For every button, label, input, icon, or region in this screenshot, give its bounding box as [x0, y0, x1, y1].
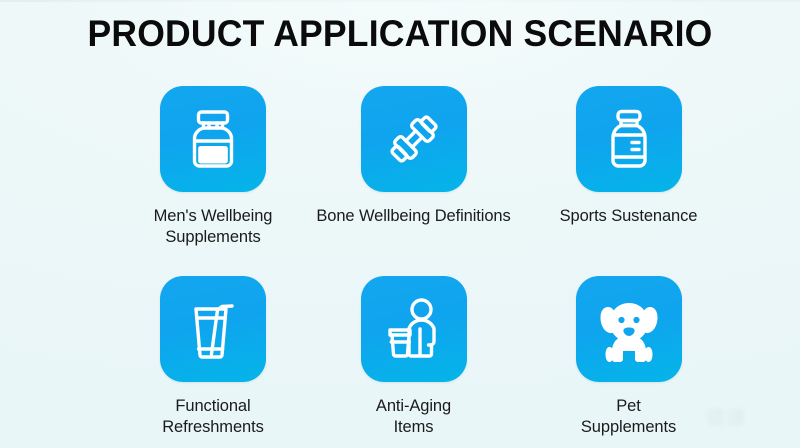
scenario-item-sports-sustenance[interactable]: Sports Sustenance [521, 86, 736, 248]
dog-icon [590, 290, 668, 368]
item-caption: Anti-Aging Items [321, 396, 507, 438]
caption-line-1: Anti-Aging [376, 397, 451, 415]
icon-tile[interactable] [160, 276, 266, 382]
icon-tile[interactable] [160, 86, 266, 192]
top-edge-divider [0, 0, 800, 2]
icon-tile[interactable] [576, 276, 682, 382]
caption-line-1: Men's Wellbeing [154, 207, 273, 225]
item-caption: Men's Wellbeing Supplements [120, 206, 306, 248]
scenario-item-mens-wellbeing-supplements[interactable]: Men's Wellbeing Supplements [120, 86, 306, 248]
icon-tile[interactable] [361, 86, 467, 192]
dumbbell-icon [377, 102, 451, 176]
slide-canvas: PRODUCT APPLICATION SCENARIO Men's Wellb… [0, 0, 800, 448]
nutrition-jar-icon [592, 102, 666, 176]
caption-line-2: Items [394, 418, 434, 436]
scenario-item-functional-refreshments[interactable]: Functional Refreshments [120, 276, 306, 438]
icon-tile[interactable] [361, 276, 467, 382]
scenario-item-bone-wellbeing-definitions[interactable]: Bone Wellbeing Definitions [306, 86, 521, 248]
drink-glass-straw-icon [176, 292, 250, 366]
item-caption: Sports Sustenance [521, 206, 736, 227]
page-title: PRODUCT APPLICATION SCENARIO [16, 12, 784, 56]
caption-line-1: Pet [616, 397, 640, 415]
caption-line-2: Supplements [581, 418, 676, 436]
item-caption: Functional Refreshments [120, 396, 306, 438]
caption-line-2: Refreshments [162, 418, 264, 436]
caption-line-1: Functional [175, 397, 250, 415]
elderly-person-icon [377, 292, 451, 366]
supplement-bottle-icon [176, 102, 250, 176]
caption-line-1: Bone Wellbeing Definitions [316, 207, 510, 225]
item-caption: Bone Wellbeing Definitions [306, 206, 521, 227]
icon-tile[interactable] [576, 86, 682, 192]
caption-line-2: Supplements [165, 228, 260, 246]
scenario-item-anti-aging-items[interactable]: Anti-Aging Items [306, 276, 521, 438]
scenario-grid: Men's Wellbeing Supplements Bone We [120, 86, 680, 438]
watermark: 健康 [666, 402, 788, 436]
caption-line-1: Sports Sustenance [560, 207, 698, 225]
